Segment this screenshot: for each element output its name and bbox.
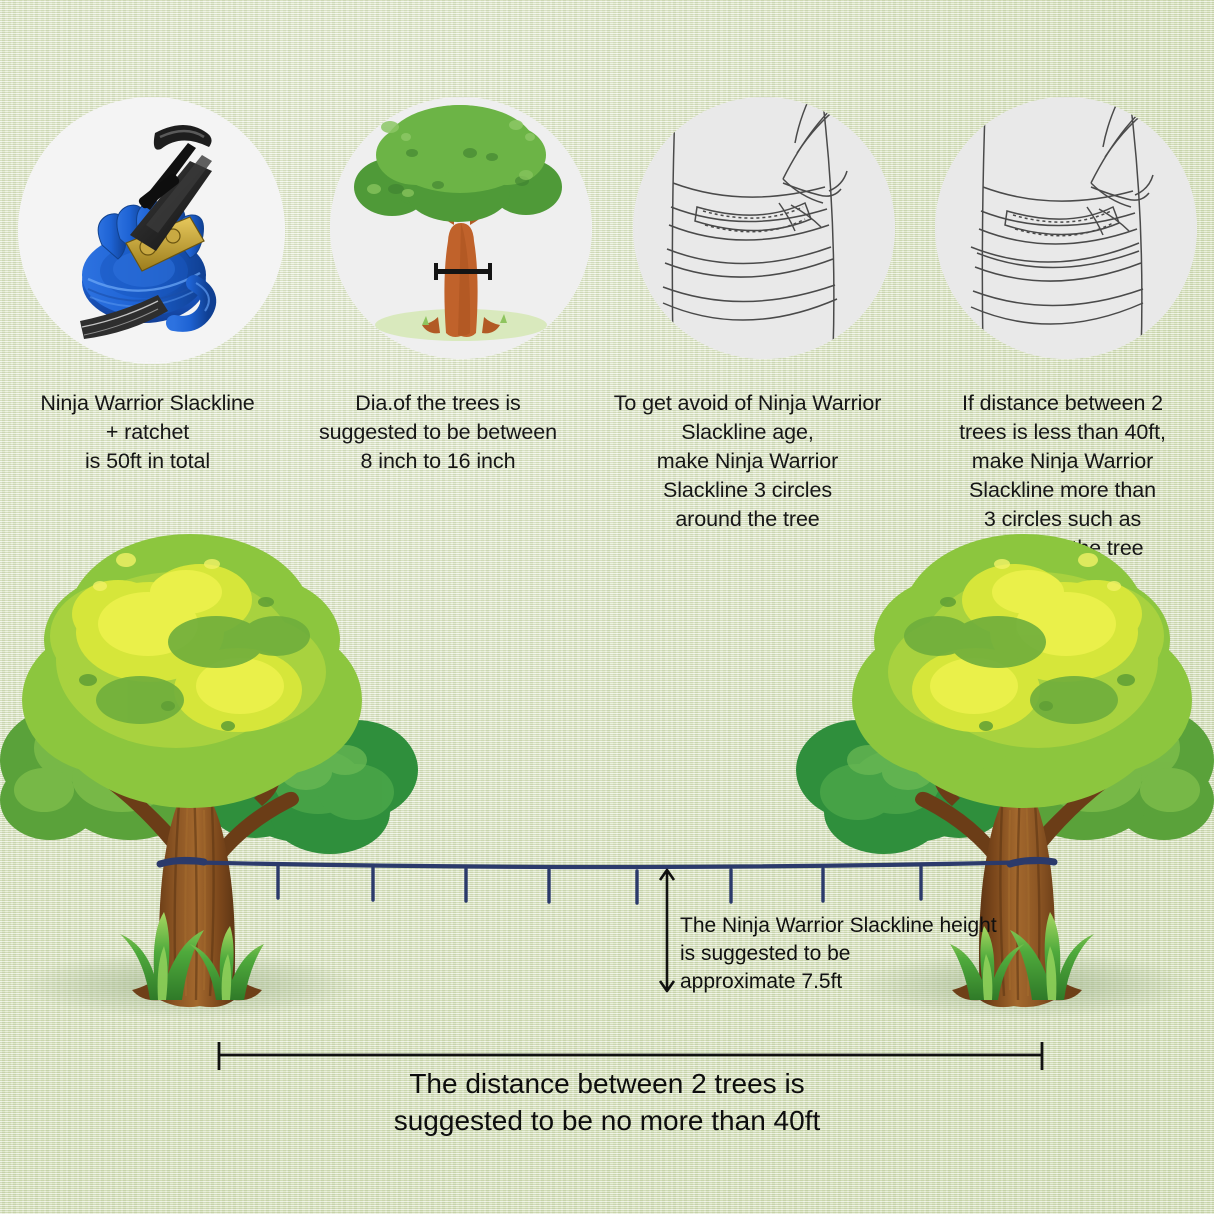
slackline-scene xyxy=(0,0,1214,1214)
height-measure-arrow xyxy=(660,870,674,991)
height-note-label: The Ninja Warrior Slackline height is su… xyxy=(680,912,1100,996)
scene-svg xyxy=(0,0,1214,1214)
tree-left xyxy=(0,534,418,1019)
slackline xyxy=(160,860,1054,903)
distance-note-label: The distance between 2 trees is suggeste… xyxy=(0,1065,1214,1139)
infographic-canvas: Ninja Warrior Slackline + ratchet is 50f… xyxy=(0,0,1214,1214)
